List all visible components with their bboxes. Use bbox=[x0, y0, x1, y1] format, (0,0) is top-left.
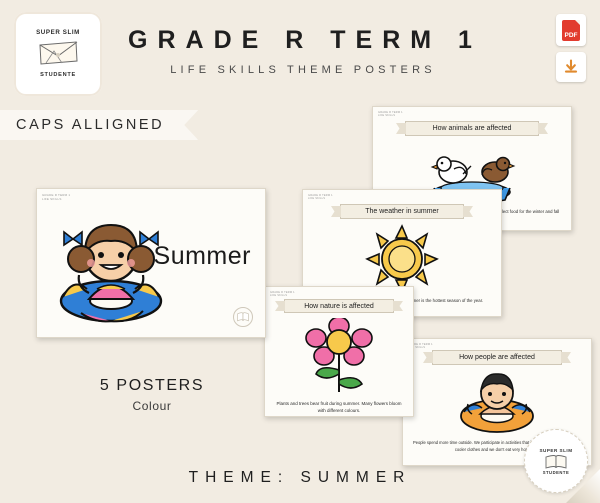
poster-count-block: 5 POSTERS Colour bbox=[62, 377, 242, 413]
pdf-file-icon: PDF bbox=[562, 20, 580, 41]
poster-preview-page: SUPER SLIM STUDENTE GRADE R TERM 1 LIFE … bbox=[0, 0, 600, 503]
sun-icon bbox=[363, 224, 441, 294]
banner-tail-right bbox=[561, 352, 571, 363]
poster-colour: Colour bbox=[62, 399, 242, 413]
poster-card-nature[interactable]: GRADE R TERM 1 LIFE SKILLS How nature is… bbox=[264, 286, 414, 417]
poster-title-banner: How nature is affected bbox=[284, 299, 394, 313]
poster-title-banner: How animals are affected bbox=[405, 121, 539, 136]
poster-body: Plants and trees bear fruit during summe… bbox=[265, 400, 413, 415]
open-book-icon bbox=[544, 453, 568, 470]
caps-aligned-ribbon: CAPS ALLIGNED bbox=[0, 110, 198, 140]
poster-count: 5 POSTERS bbox=[62, 377, 242, 395]
header: GRADE R TERM 1 LIFE SKILLS THEME POSTERS bbox=[0, 26, 600, 76]
download-arrow-icon bbox=[563, 59, 579, 75]
boy-in-swim-ring-icon bbox=[442, 370, 552, 436]
poster-corner-note: GRADE R TERM 1 LIFE SKILLS bbox=[270, 291, 300, 299]
page-subtitle: LIFE SKILLS THEME POSTERS bbox=[6, 64, 600, 76]
poster-stamp bbox=[233, 307, 253, 327]
poster-corner-note: GRADE R TERM 1 LIFE SKILLS bbox=[308, 194, 338, 202]
banner-tail-right bbox=[538, 123, 548, 134]
poster-title: The weather in summer bbox=[365, 208, 439, 215]
poster-title: How nature is affected bbox=[304, 303, 374, 310]
poster-title: How animals are affected bbox=[433, 125, 512, 132]
banner-tail-right bbox=[463, 206, 473, 217]
download-button[interactable] bbox=[556, 52, 586, 82]
banner-tail-left bbox=[396, 123, 406, 134]
caps-aligned-label: CAPS ALLIGNED bbox=[16, 117, 164, 133]
pink-flower-icon bbox=[296, 318, 382, 394]
poster-corner-note: GRADE R TERM 1 LIFE SKILLS bbox=[378, 111, 408, 119]
page-title: GRADE R TERM 1 bbox=[10, 26, 600, 55]
poster-title-banner: How people are affected bbox=[432, 350, 562, 365]
pdf-label: PDF bbox=[565, 32, 578, 39]
theme-footer: THEME: SUMMER bbox=[0, 469, 600, 487]
poster-title-banner: The weather in summer bbox=[340, 204, 464, 219]
banner-tail-left bbox=[331, 206, 341, 217]
poster-title: Summer bbox=[154, 242, 251, 271]
open-book-icon bbox=[236, 310, 250, 324]
banner-tail-left bbox=[275, 301, 285, 311]
pdf-badge[interactable]: PDF bbox=[556, 14, 586, 46]
poster-card-summer[interactable]: GRADE R TERM 1 LIFE SKILLS bbox=[36, 188, 266, 338]
poster-corner-note: GRADE R TERM 1 LIFE SKILLS bbox=[42, 193, 72, 201]
round-logo-bottom-label: STUDENTE bbox=[543, 470, 570, 475]
banner-tail-left bbox=[423, 352, 433, 363]
poster-title: How people are affected bbox=[459, 354, 535, 361]
brand-round-logo: SUPER SLIM STUDENTE bbox=[524, 429, 588, 493]
banner-tail-right bbox=[393, 301, 403, 311]
